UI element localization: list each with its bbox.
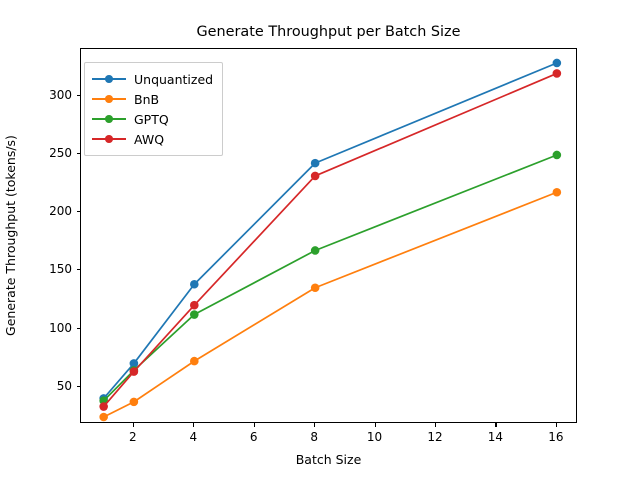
y-axis-label: Generate Throughput (tokens/s) — [0, 48, 20, 423]
x-tick-label: 12 — [427, 430, 442, 444]
legend-label: GPTQ — [126, 112, 169, 127]
data-point-marker — [311, 172, 320, 181]
data-point-marker — [311, 283, 320, 292]
y-tick-label: 300 — [22, 88, 72, 102]
legend-label: AWQ — [126, 132, 164, 147]
data-point-marker — [311, 246, 320, 255]
data-point-marker — [190, 280, 199, 289]
data-point-marker — [553, 69, 562, 78]
x-tick-label: 14 — [488, 430, 503, 444]
x-tick-label: 16 — [548, 430, 563, 444]
series-gptq — [99, 151, 561, 405]
data-point-marker — [190, 301, 199, 310]
data-point-marker — [190, 310, 199, 319]
data-point-marker — [99, 413, 108, 422]
y-axis-label-text: Generate Throughput (tokens/s) — [3, 135, 18, 336]
y-tick-label: 50 — [22, 379, 72, 393]
legend-item: AWQ — [92, 129, 213, 149]
series-bnb — [99, 188, 561, 421]
figure-canvas: Generate Throughput per Batch Size Gener… — [0, 0, 640, 480]
legend-swatch-icon — [92, 112, 126, 126]
x-tick-label: 10 — [367, 430, 382, 444]
series-line — [104, 192, 557, 417]
data-point-marker — [130, 367, 139, 376]
legend-item: GPTQ — [92, 109, 213, 129]
data-point-marker — [130, 398, 139, 407]
data-point-marker — [553, 188, 562, 197]
data-point-marker — [190, 357, 199, 366]
data-point-marker — [99, 402, 108, 411]
data-point-marker — [311, 159, 320, 168]
x-tick-label: 2 — [129, 430, 137, 444]
legend-label: Unquantized — [126, 72, 213, 87]
x-tick-label: 4 — [189, 430, 197, 444]
legend-swatch-icon — [92, 72, 126, 86]
y-tick-label: 150 — [22, 262, 72, 276]
chart-title: Generate Throughput per Batch Size — [80, 24, 577, 40]
legend-item: BnB — [92, 89, 213, 109]
x-tick-label: 8 — [310, 430, 318, 444]
legend-swatch-icon — [92, 92, 126, 106]
legend-item: Unquantized — [92, 69, 213, 89]
legend-swatch-icon — [92, 132, 126, 146]
data-point-marker — [553, 59, 562, 68]
series-line — [104, 155, 557, 401]
data-point-marker — [553, 151, 562, 160]
y-tick-label: 250 — [22, 146, 72, 160]
y-tick-label: 100 — [22, 321, 72, 335]
legend: UnquantizedBnBGPTQAWQ — [84, 62, 223, 156]
x-tick-label: 6 — [250, 430, 258, 444]
y-tick-label: 200 — [22, 204, 72, 218]
x-axis-label: Batch Size — [80, 452, 577, 467]
legend-label: BnB — [126, 92, 159, 107]
